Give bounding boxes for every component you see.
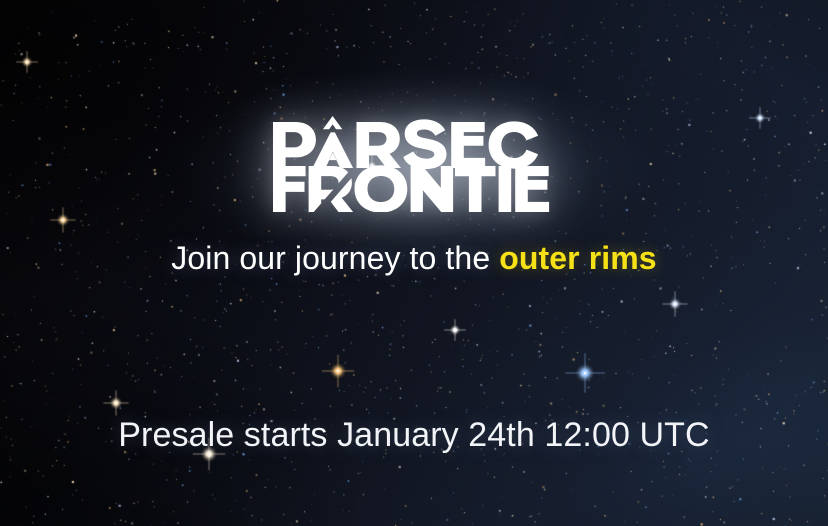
tagline-prefix: Join our journey to the [171, 240, 499, 276]
splash-content: PÂRSEC FRONTIERS Join our journey to the… [0, 0, 828, 526]
tagline-accent: outer rims [499, 240, 656, 276]
brand-logo: PÂRSEC FRONTIERS [0, 116, 828, 212]
parsec-frontiers-wordmark-icon [273, 116, 555, 212]
splash-screen: PÂRSEC FRONTIERS Join our journey to the… [0, 0, 828, 526]
tagline: Join our journey to the outer rims [0, 240, 828, 277]
presale-announcement: Presale starts January 24th 12:00 UTC [0, 416, 828, 455]
